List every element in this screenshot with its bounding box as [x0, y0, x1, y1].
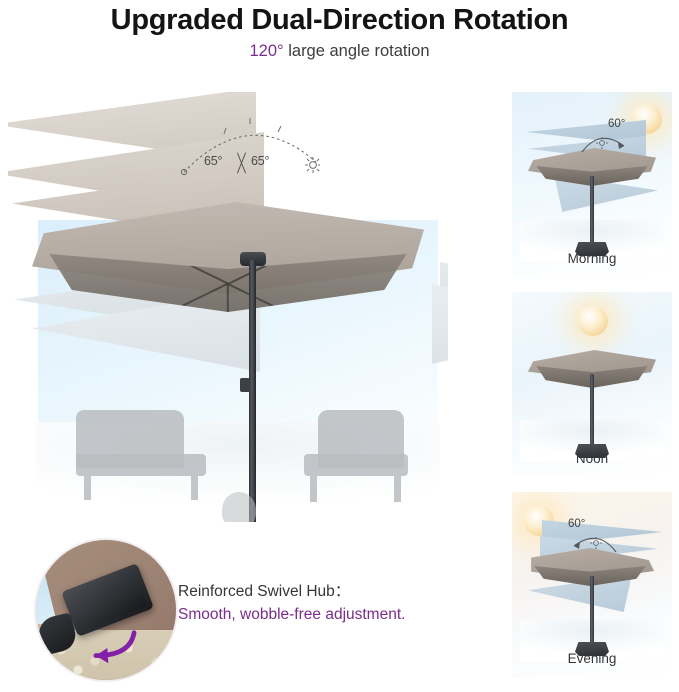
subtitle-angle-value: 120° — [250, 42, 284, 60]
time-of-day-panels: 60° Morning Noon — [512, 92, 672, 692]
panel-evening: 60° Evening — [512, 492, 672, 678]
panel-label: Noon — [512, 451, 672, 466]
furniture-chair-right-leg — [310, 476, 317, 502]
furniture-plant — [222, 492, 256, 522]
page-title: Upgraded Dual-Direction Rotation — [0, 2, 679, 38]
panel-label: Evening — [512, 651, 672, 666]
subtitle-text: large angle rotation — [284, 42, 430, 60]
hub-title: Reinforced Swivel Hub： — [178, 580, 508, 603]
rotation-cross-icon — [233, 152, 251, 174]
furniture-chair-right-leg — [394, 476, 401, 502]
umbrella-pole — [590, 176, 594, 244]
reinforced-swivel-hub-photo — [34, 538, 178, 682]
furniture-sofa-left-seat — [76, 454, 206, 476]
swivel-hub-callout: Reinforced Swivel Hub： Smooth, wobble-fr… — [0, 534, 512, 686]
panel-noon: Noon — [512, 292, 672, 478]
umbrella-canopy — [32, 202, 424, 294]
page-subtitle: 120° large angle rotation — [0, 38, 679, 64]
panel-morning: 60° Morning — [512, 92, 672, 278]
main-rotation-scene: 65° 65° — [8, 92, 448, 522]
furniture-sofa-left-leg — [84, 476, 91, 500]
angle-label-right: 65° — [251, 154, 269, 168]
infographic-header: Upgraded Dual-Direction Rotation 120° la… — [0, 0, 679, 64]
rotation-arrow-icon — [568, 526, 620, 556]
angle-label-left: 65° — [204, 154, 222, 168]
infographic-body: 65° 65° — [0, 88, 679, 689]
umbrella-pole — [590, 576, 594, 644]
pole-crank-knob — [240, 378, 250, 392]
rotation-arrow-icon — [578, 126, 630, 156]
purple-curved-arrow-icon — [78, 627, 142, 669]
canopy-ghost-blade — [432, 284, 448, 364]
umbrella-pole — [249, 260, 256, 522]
swivel-hub-text: Reinforced Swivel Hub： Smooth, wobble-fr… — [178, 580, 508, 626]
furniture-sofa-left-leg — [191, 476, 198, 500]
furniture-chair-right-seat — [304, 454, 408, 476]
hub-description: Smooth, wobble-free adjustment. — [178, 603, 508, 626]
sun-icon — [305, 157, 320, 173]
umbrella-pole — [590, 374, 594, 446]
sun-icon — [578, 306, 608, 336]
panel-label: Morning — [512, 251, 672, 266]
